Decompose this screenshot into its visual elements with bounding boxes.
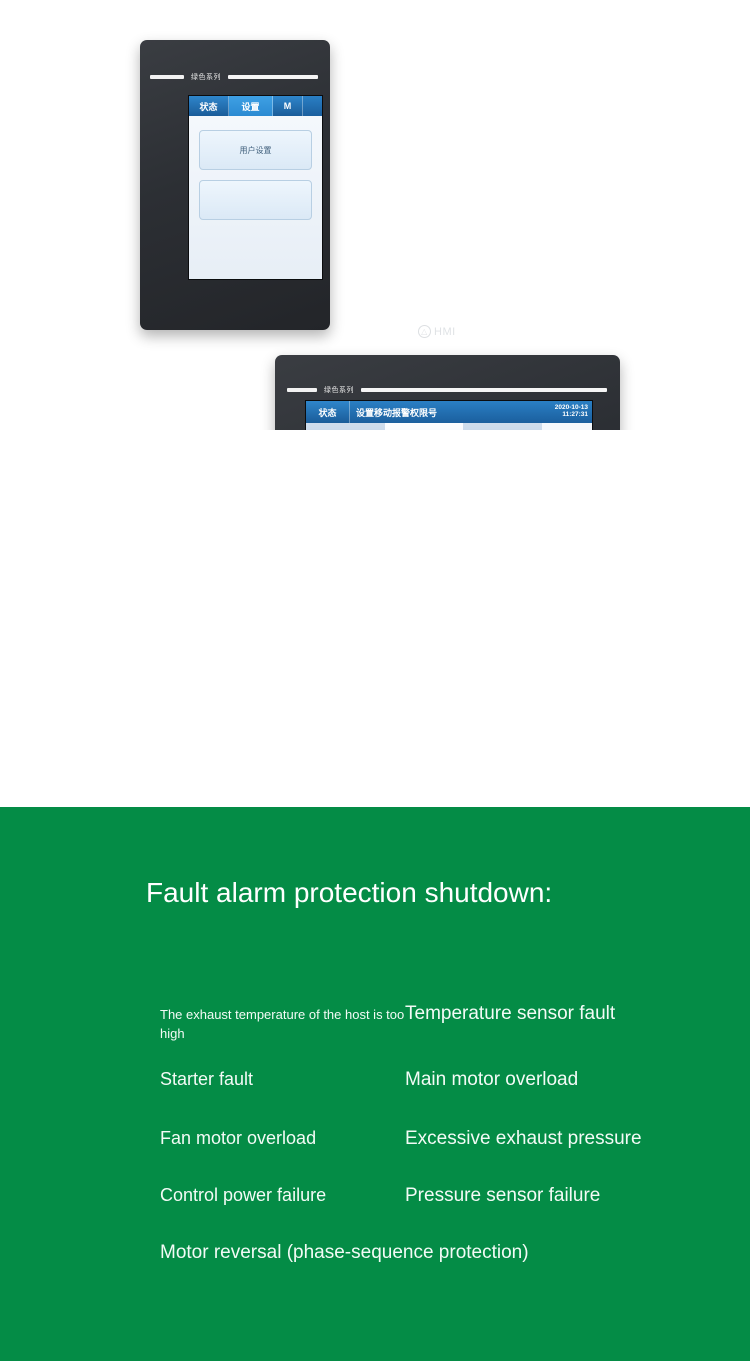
brand-bar [287, 388, 317, 392]
brand-bar-long [361, 388, 607, 392]
alarm-motor-reversal: Motor reversal (phase-sequence protectio… [160, 1242, 529, 1264]
feature-section: New PLC intelligent operation control pa… [0, 430, 750, 807]
brand-row-center: 绿色系列 [287, 385, 607, 395]
alarm-section-title: Fault alarm protection shutdown: [146, 877, 552, 909]
time-text: 11:27:31 [555, 412, 588, 419]
side-button-column: 开始 [542, 423, 592, 430]
brand-row-back-left: 绿色系列 [150, 72, 318, 82]
breadcrumb-left[interactable]: N [306, 423, 385, 430]
tab-status[interactable]: 状态 [306, 401, 350, 423]
tab-settings[interactable]: 设置 [229, 96, 273, 116]
list-item-secondary[interactable] [199, 180, 312, 220]
alarm-row-4: Control power failure Pressure sensor fa… [160, 1185, 720, 1207]
watermark: △ HMI [418, 325, 456, 338]
screen-body: N 跟 Auto Start Pres 0.50MPa [306, 423, 592, 430]
device-back-left: 绿色系列 状态 设置 M 用户设置 [140, 40, 330, 330]
brand-bar-long [228, 75, 318, 79]
breadcrumb-right[interactable]: Auto Start Pres 0.50MPa [463, 423, 542, 430]
datetime-display: 2020-10-13 11:27:31 [555, 401, 592, 423]
alarm-row-2: Starter fault Main motor overload [160, 1069, 720, 1091]
product-page: 绿色系列 状态 设置 M 用户设置 绿色系列 [0, 0, 750, 1361]
alarm-fan-motor-overload: Fan motor overload [160, 1128, 405, 1149]
hero-product-image: 绿色系列 状态 设置 M 用户设置 绿色系列 [0, 0, 750, 430]
screen-header: 状态 设置 M [189, 96, 322, 116]
alarm-starter-fault: Starter fault [160, 1069, 405, 1090]
screen-back-left: 状态 设置 M 用户设置 [188, 95, 323, 280]
device-center: 绿色系列 状态 设置移动报警权限号 2020-10-13 11:27:31 [275, 355, 620, 430]
alarm-section: Fault alarm protection shutdown: The exh… [0, 807, 750, 1361]
screen-center: 状态 设置移动报警权限号 2020-10-13 11:27:31 N [305, 400, 593, 430]
alarm-main-motor-overload: Main motor overload [405, 1069, 578, 1091]
alarm-row-1: The exhaust temperature of the host is t… [160, 1003, 720, 1044]
tab-more[interactable]: M [273, 96, 303, 116]
alarm-pressure-sensor-failure: Pressure sensor failure [405, 1185, 600, 1207]
alarm-row-3: Fan motor overload Excessive exhaust pre… [160, 1128, 720, 1150]
watermark-text: HMI [434, 326, 456, 338]
alarm-temperature-sensor-fault: Temperature sensor fault [405, 1003, 615, 1025]
screen-title: 设置移动报警权限号 [350, 401, 437, 423]
brand-series-label: 绿色系列 [191, 72, 221, 82]
breadcrumb: N 跟 Auto Start Pres 0.50MPa [306, 423, 542, 430]
screen-header: 状态 设置移动报警权限号 2020-10-13 11:27:31 [306, 401, 592, 423]
brand-bar [150, 75, 184, 79]
screen-body: 用户设置 [189, 116, 322, 280]
brand-series-label: 绿色系列 [324, 385, 354, 395]
alarm-host-exhaust-temp-high: The exhaust temperature of the host is t… [160, 1006, 405, 1044]
alarm-row-5: Motor reversal (phase-sequence protectio… [160, 1242, 720, 1264]
alarm-excessive-exhaust-pressure: Excessive exhaust pressure [405, 1128, 642, 1150]
breadcrumb-mid[interactable]: 跟 [385, 423, 464, 430]
tab-status[interactable]: 状态 [189, 96, 229, 116]
alarm-control-power-failure: Control power failure [160, 1185, 405, 1206]
watermark-logo-icon: △ [418, 325, 431, 338]
list-item-user-settings[interactable]: 用户设置 [199, 130, 312, 170]
